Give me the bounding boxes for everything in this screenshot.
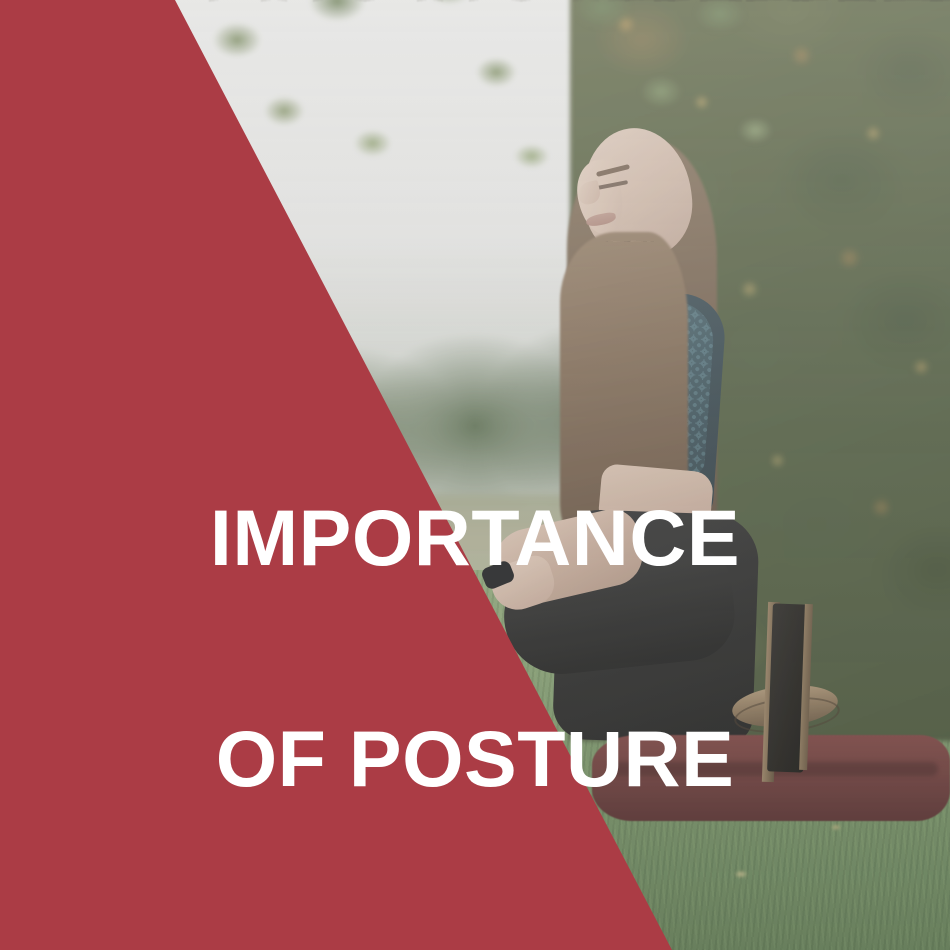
poster-canvas: IMPORTANCE OF POSTURE	[0, 0, 950, 950]
